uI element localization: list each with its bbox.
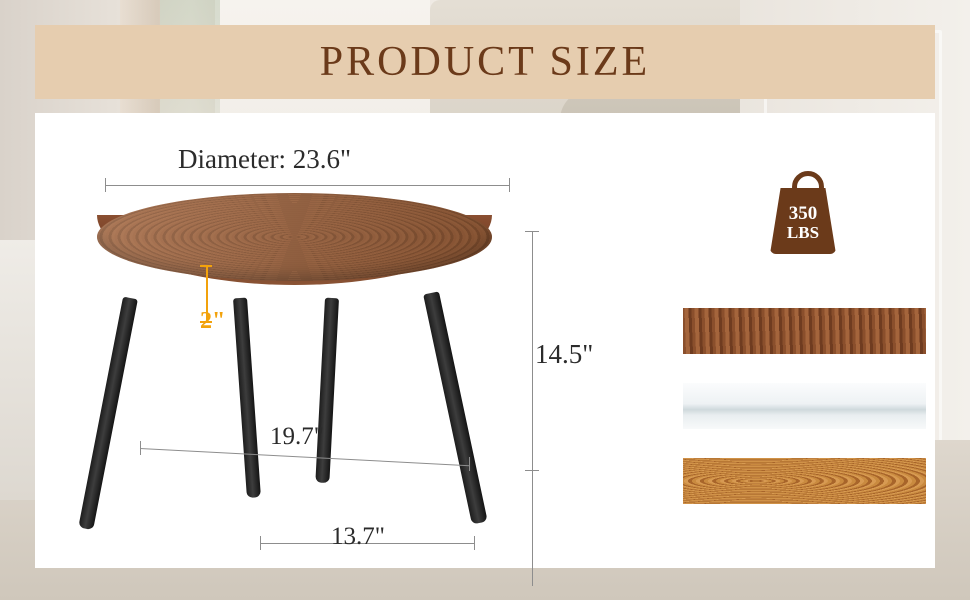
height-tick-bottom bbox=[525, 470, 539, 471]
diameter-rule bbox=[105, 185, 510, 186]
weight-icon: 350 LBS bbox=[770, 188, 836, 254]
thickness-tick-top bbox=[200, 265, 212, 267]
dimension-label-diameter: Diameter: 23.6" bbox=[178, 144, 351, 175]
leg-span-upper-tick-right bbox=[469, 457, 470, 471]
dimension-label-thickness: 2" bbox=[200, 308, 225, 335]
table-leg bbox=[315, 298, 339, 483]
weight-capacity-value: 350 bbox=[770, 204, 836, 224]
dimension-label-19-7: 19.7" bbox=[270, 423, 324, 451]
height-tick-top bbox=[525, 231, 539, 232]
leg-span-lower-tick-left bbox=[260, 536, 261, 550]
leg-span-lower-tick-right bbox=[474, 536, 475, 550]
banner: PRODUCT SIZE bbox=[35, 25, 935, 99]
table-top-surface bbox=[97, 193, 492, 281]
material-swatch-white-marble bbox=[683, 383, 926, 429]
material-swatch-walnut-wood-grain bbox=[683, 308, 926, 354]
table-leg bbox=[233, 298, 261, 498]
table-top bbox=[97, 193, 492, 298]
table-leg bbox=[423, 291, 488, 524]
dimension-label-13-7: 13.7" bbox=[331, 523, 385, 551]
content-card: Diameter: 23.6" 14.5" 19.7" 13.7" 2" bbox=[35, 113, 935, 568]
page-title: PRODUCT SIZE bbox=[320, 38, 650, 86]
product-diagram: Diameter: 23.6" 14.5" 19.7" 13.7" 2" bbox=[35, 113, 655, 568]
material-swatch-natural-wood-rings bbox=[683, 458, 926, 504]
leg-span-upper-tick-left bbox=[140, 441, 141, 455]
diameter-tick-left bbox=[105, 178, 106, 192]
height-rule bbox=[532, 231, 533, 586]
dimension-label-height: 14.5" bbox=[535, 339, 593, 370]
specs-column: 350 LBS bbox=[655, 113, 935, 568]
product-size-infographic: PRODUCT SIZE Diameter: 23.6" 14.5" bbox=[0, 0, 970, 600]
diameter-tick-right bbox=[509, 178, 510, 192]
weight-capacity-unit: LBS bbox=[770, 224, 836, 242]
table-leg bbox=[78, 297, 138, 531]
